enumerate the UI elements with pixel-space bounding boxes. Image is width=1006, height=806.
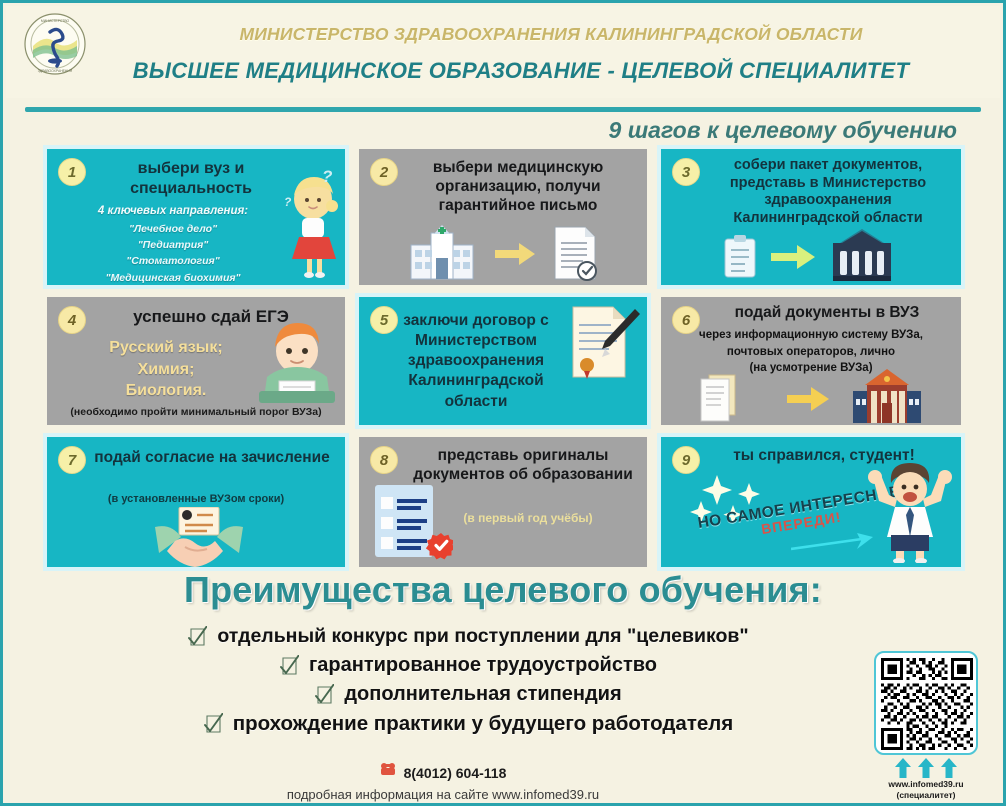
step-subline: почтовых операторов, лично — [675, 344, 947, 361]
header: МИНИСТЕРСТВО ЗДРАВООХРАНЕНИЯ МИНИСТЕРСТВ… — [6, 6, 1000, 98]
exam-subjects: Русский язык; Химия; Биология. — [71, 337, 261, 402]
advantage-text: дополнительная стипендия — [344, 683, 621, 706]
arrow-right-icon — [495, 243, 535, 270]
qr-caption: www.infomed39.ru (специалитет) — [871, 779, 981, 800]
arrow-right-icon — [787, 387, 829, 416]
qr-caption-line-2: (специалитет) — [871, 790, 981, 801]
steps-heading: 9 шагов к целевому обучению — [609, 117, 957, 144]
advantage-text: отдельный конкурс при поступлении для "ц… — [217, 625, 748, 648]
step-title: подай документы в ВУЗ — [703, 304, 951, 323]
advantages-title: Преимущества целевого обучения: — [3, 569, 1003, 611]
question-mark-icon: ? — [284, 195, 291, 209]
advantage-item: гарантированное трудоустройство — [63, 654, 873, 677]
qr-block: www.infomed39.ru (специалитет) — [871, 651, 981, 800]
directions-header: 4 ключевых направления: — [59, 203, 287, 221]
step-number-badge: 3 — [672, 158, 700, 186]
qr-code-icon[interactable] — [874, 651, 978, 755]
step-subline: через информационную систему ВУЗа, — [675, 327, 947, 344]
contract-pen-icon — [567, 305, 641, 386]
advantage-item: прохождение практики у будущего работода… — [63, 712, 873, 736]
hospital-building-icon — [405, 225, 479, 285]
advantage-item: дополнительная стипендия — [63, 683, 873, 706]
documents-stack-icon — [697, 373, 747, 425]
direction-item: "Педиатрия" — [59, 237, 287, 253]
advantage-text: прохождение практики у будущего работода… — [233, 712, 734, 736]
direction-item: "Стоматология" — [59, 253, 287, 269]
step-card-8: 8 представь оригиналы документов об обра… — [359, 437, 647, 567]
step-card-2: 2 выбери медицинскую организацию, получи… — [359, 149, 647, 285]
step-number-badge: 4 — [58, 306, 86, 334]
step-card-1: 1 выбери вуз и специальность 4 ключевых … — [47, 149, 345, 285]
poster-root: МИНИСТЕРСТВО ЗДРАВООХРАНЕНИЯ МИНИСТЕРСТВ… — [0, 0, 1006, 806]
step-title: подай согласие на зачисление — [93, 449, 331, 468]
phone-number[interactable]: 8(4012) 604-118 — [404, 765, 507, 781]
step-title: собери пакет документов, представь в Мин… — [705, 157, 951, 228]
checkmark-icon — [187, 626, 207, 648]
checkmark-icon — [203, 713, 223, 735]
government-building-icon — [831, 229, 893, 285]
exam-subject: Русский язык; — [71, 337, 261, 359]
step-title: заключи договор с Министерством здравоох… — [383, 311, 569, 412]
advantages-list: отдельный конкурс при поступлении для "ц… — [63, 625, 873, 742]
step-card-9: 9 ты справился, студент! НО САМОЕ ИНТЕРЕ… — [661, 437, 961, 567]
step-note: (в установленные ВУЗом сроки) — [67, 493, 325, 505]
step-card-6: 6 подай документы в ВУЗ через информацио… — [661, 297, 961, 425]
checkmark-icon — [279, 655, 299, 677]
advantage-text: гарантированное трудоустройство — [309, 654, 657, 677]
direction-item: "Медицинская биохимия" — [59, 270, 287, 285]
exam-subject: Биология. — [71, 380, 261, 402]
arrow-right-icon — [771, 245, 815, 274]
clipboard-icon — [723, 235, 757, 284]
direction-item: "Лечебное дело" — [59, 221, 287, 237]
ministry-subtitle: МИНИСТЕРСТВО ЗДРАВООХРАНЕНИЯ КАЛИНИНГРАД… — [126, 24, 976, 45]
svg-text:МИНИСТЕРСТВО: МИНИСТЕРСТВО — [41, 19, 70, 23]
step-number-badge: 1 — [58, 158, 86, 186]
step-number-badge: 2 — [370, 158, 398, 186]
step-number-badge: 7 — [58, 446, 86, 474]
exam-subject: Химия; — [71, 359, 261, 381]
step-1-directions: 4 ключевых направления: "Лечебное дело" … — [59, 203, 287, 285]
step-card-5: 5 заключи договор с Министерством здраво… — [359, 297, 647, 425]
site-info-line[interactable]: подробная информация на сайте www.infome… — [3, 787, 883, 802]
student-exam-icon — [253, 319, 341, 410]
step-number-badge: 9 — [672, 446, 700, 474]
steps-grid: 1 выбери вуз и специальность 4 ключевых … — [47, 149, 961, 569]
handshake-certificate-icon — [151, 507, 247, 567]
step-title: выбери вуз и специальность — [93, 159, 289, 198]
checklist-approved-icon — [371, 483, 453, 566]
cheering-student-icon — [867, 459, 953, 567]
checkmark-icon — [314, 684, 334, 706]
contact-phone-row: 8(4012) 604-118 — [3, 763, 883, 782]
step-title: выбери медицинскую организацию, получи г… — [403, 159, 633, 216]
step-title: представь оригиналы документов об образо… — [411, 447, 635, 485]
page-title: ВЫСШЕЕ МЕДИЦИНСКОЕ ОБРАЗОВАНИЕ - ЦЕЛЕВОЙ… — [66, 58, 976, 84]
step-card-3: 3 собери пакет документов, представь в М… — [661, 149, 961, 285]
girl-thinking-icon — [279, 173, 345, 283]
header-divider — [25, 107, 981, 112]
question-mark-icon: ? — [322, 167, 332, 187]
document-check-icon — [549, 225, 601, 285]
telephone-icon — [380, 763, 396, 782]
step-card-4: 4 успешно сдай ЕГЭ Русский язык; Химия; … — [47, 297, 345, 425]
advantage-item: отдельный конкурс при поступлении для "ц… — [63, 625, 873, 648]
step-number-badge: 8 — [370, 446, 398, 474]
university-building-icon — [851, 369, 923, 425]
step-card-7: 7 подай согласие на зачисление (в устано… — [47, 437, 345, 567]
qr-caption-line-1: www.infomed39.ru — [871, 779, 981, 790]
arrows-up-icon — [871, 758, 981, 778]
